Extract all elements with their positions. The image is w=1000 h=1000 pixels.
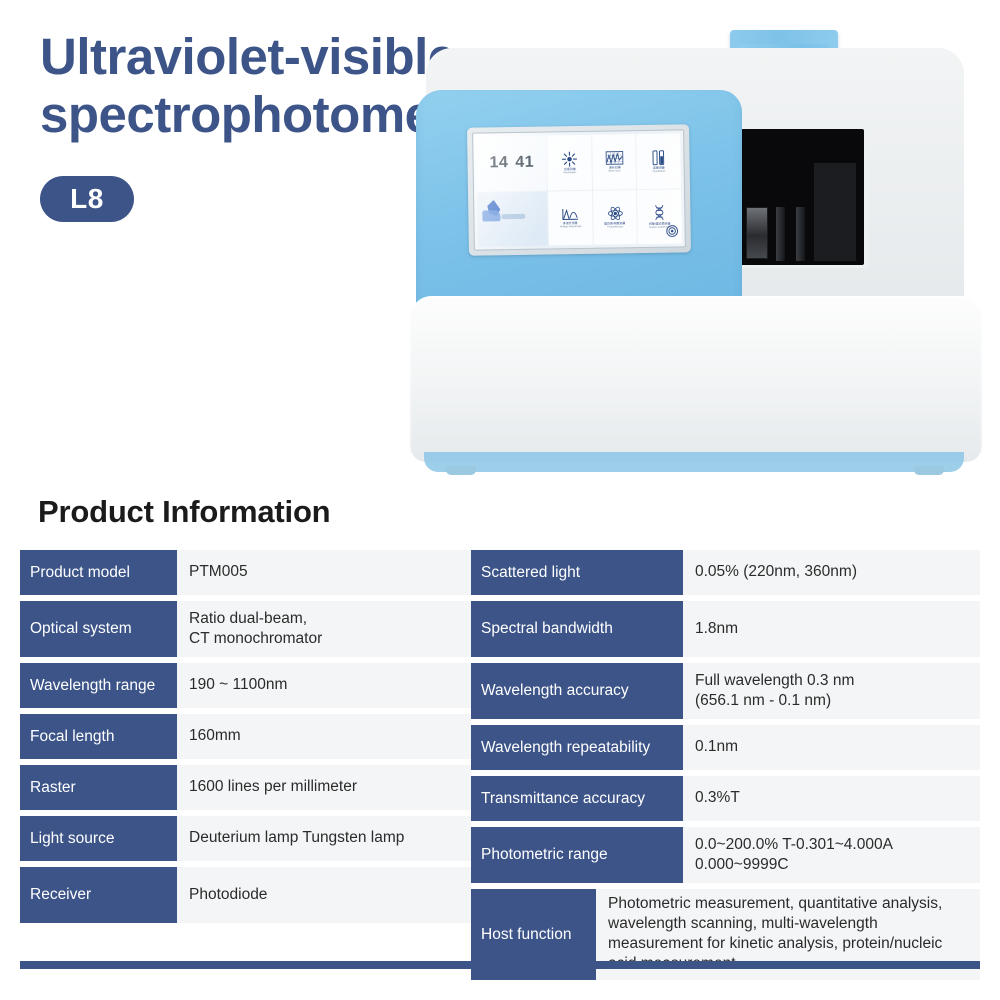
clock-hours: 14	[489, 154, 508, 172]
table-row: Wavelength accuracy Full wavelength 0.3 …	[471, 663, 980, 719]
spec-label: Wavelength accuracy	[471, 663, 683, 719]
lcd-tile-photometric[interactable]: 光度测量 Photometric	[548, 135, 592, 190]
lcd-settings-button[interactable]	[666, 224, 679, 242]
lcd-tile-label-cn: 光度测量	[564, 168, 576, 171]
instrument-foot	[446, 466, 476, 475]
lcd-tile-label-en: Photometric	[564, 172, 577, 175]
lcd-tile-label-cn: 多波长测量	[563, 222, 578, 225]
sample-compartment	[736, 129, 864, 265]
specification-table: Product model PTM005 Optical system Rati…	[20, 550, 980, 980]
table-row: Transmittance accuracy 0.3%T	[471, 776, 980, 821]
dna-helix-icon	[653, 204, 665, 221]
lcd-tile-label-en: Wave Scan	[608, 170, 620, 173]
spec-value: Deuterium lamp Tungsten lamp	[177, 816, 471, 861]
lab-shape-b	[482, 210, 500, 221]
instrument-photo: 14 41 光度测量 Photometri	[398, 14, 998, 494]
spec-column-left: Product model PTM005 Optical system Rati…	[20, 550, 471, 980]
spec-value: 190 ~ 1100nm	[177, 663, 471, 708]
spec-label: Light source	[20, 816, 177, 861]
spec-column-right: Scattered light 0.05% (220nm, 360nm) Spe…	[471, 550, 980, 980]
table-row: Scattered light 0.05% (220nm, 360nm)	[471, 550, 980, 595]
lcd-tile-wavelength-scan[interactable]: 波长扫描 Wave Scan	[592, 134, 636, 189]
spec-label: Focal length	[20, 714, 177, 759]
lcd-touchscreen[interactable]: 14 41 光度测量 Photometri	[472, 129, 686, 250]
lab-shape-c	[501, 213, 525, 218]
table-row: Receiver Photodiode	[20, 867, 471, 923]
spectrum-scan-icon	[605, 150, 623, 165]
table-row: Light source Deuterium lamp Tungsten lam…	[20, 816, 471, 861]
lcd-tile-label-cn: 蛋白质/核酸测量	[605, 222, 626, 225]
table-row: Focal length 160mm	[20, 714, 471, 759]
table-row: Product model PTM005	[20, 550, 471, 595]
spec-label: Scattered light	[471, 550, 683, 595]
spec-label: Product model	[20, 550, 177, 595]
lcd-tile-label-en: Protein/Nucleic	[607, 226, 623, 229]
spec-value: 160mm	[177, 714, 471, 759]
spec-value: 0.0~200.0% T-0.301~4.000A 0.000~9999C	[683, 827, 980, 883]
lcd-tile-multi-wavelength[interactable]: 多波长测量 Multiple Wavelength	[548, 190, 592, 245]
cuvette	[746, 207, 768, 259]
product-spec-page: Ultraviolet-visible spectrophotometer L8…	[0, 0, 1000, 1000]
instrument-chassis	[410, 296, 982, 462]
lcd-tile-quantitative[interactable]: 定量测量 Quantitative	[637, 133, 681, 188]
rack-rail	[776, 207, 785, 261]
lcd-tile-label-en: Multiple Wavelength	[560, 226, 581, 229]
starburst-icon	[562, 151, 578, 167]
spec-value: 0.05% (220nm, 360nm)	[683, 550, 980, 595]
model-badge: L8	[40, 176, 134, 222]
lcd-tile-kinetics[interactable]: 蛋白质/核酸测量 Protein/Nucleic	[593, 190, 637, 245]
table-row: Optical system Ratio dual-beam, CT monoc…	[20, 601, 471, 657]
instrument-foot	[914, 466, 944, 475]
table-row: Raster 1600 lines per millimeter	[20, 765, 471, 810]
lcd-lab-thumbnail	[477, 191, 548, 247]
spec-value: 0.1nm	[683, 725, 980, 770]
lcd-tile-label-en: Quantitative	[653, 170, 666, 173]
table-row: Wavelength range 190 ~ 1100nm	[20, 663, 471, 708]
spec-value: 1.8nm	[683, 601, 980, 657]
spec-label: Spectral bandwidth	[471, 601, 683, 657]
lcd-clock: 14 41	[476, 136, 547, 192]
cuvettes-icon	[652, 149, 666, 165]
clock-minutes: 41	[515, 154, 534, 172]
spec-label: Optical system	[20, 601, 177, 657]
spec-value: Photodiode	[177, 867, 471, 923]
spec-label: Raster	[20, 765, 177, 810]
spec-label: Transmittance accuracy	[471, 776, 683, 821]
spec-value: Ratio dual-beam, CT monochromator	[177, 601, 471, 657]
atom-icon	[607, 205, 623, 221]
spec-value: 0.3%T	[683, 776, 980, 821]
settings-gear-icon	[666, 224, 679, 237]
section-title-product-information: Product Information	[38, 494, 330, 530]
chassis-base-strip	[424, 452, 964, 472]
curve-icon	[561, 207, 579, 221]
compartment-back-wall	[814, 163, 856, 261]
table-row: Photometric range 0.0~200.0% T-0.301~4.0…	[471, 827, 980, 883]
lcd-tile-label-cn: 定量测量	[653, 166, 665, 169]
spec-value: 1600 lines per millimeter	[177, 765, 471, 810]
spec-value: PTM005	[177, 550, 471, 595]
spec-label: Wavelength repeatability	[471, 725, 683, 770]
rack-rail	[796, 207, 805, 261]
footer-rule	[20, 961, 980, 969]
lcd-tile-label-cn: 波长扫描	[608, 166, 620, 169]
cuvette-rack	[746, 207, 816, 261]
spec-label: Photometric range	[471, 827, 683, 883]
spec-value: Full wavelength 0.3 nm (656.1 nm - 0.1 n…	[683, 663, 980, 719]
table-row: Wavelength repeatability 0.1nm	[471, 725, 980, 770]
spec-label: Wavelength range	[20, 663, 177, 708]
spec-label: Receiver	[20, 867, 177, 923]
table-row: Spectral bandwidth 1.8nm	[471, 601, 980, 657]
screen-bezel: 14 41 光度测量 Photometri	[467, 124, 691, 255]
